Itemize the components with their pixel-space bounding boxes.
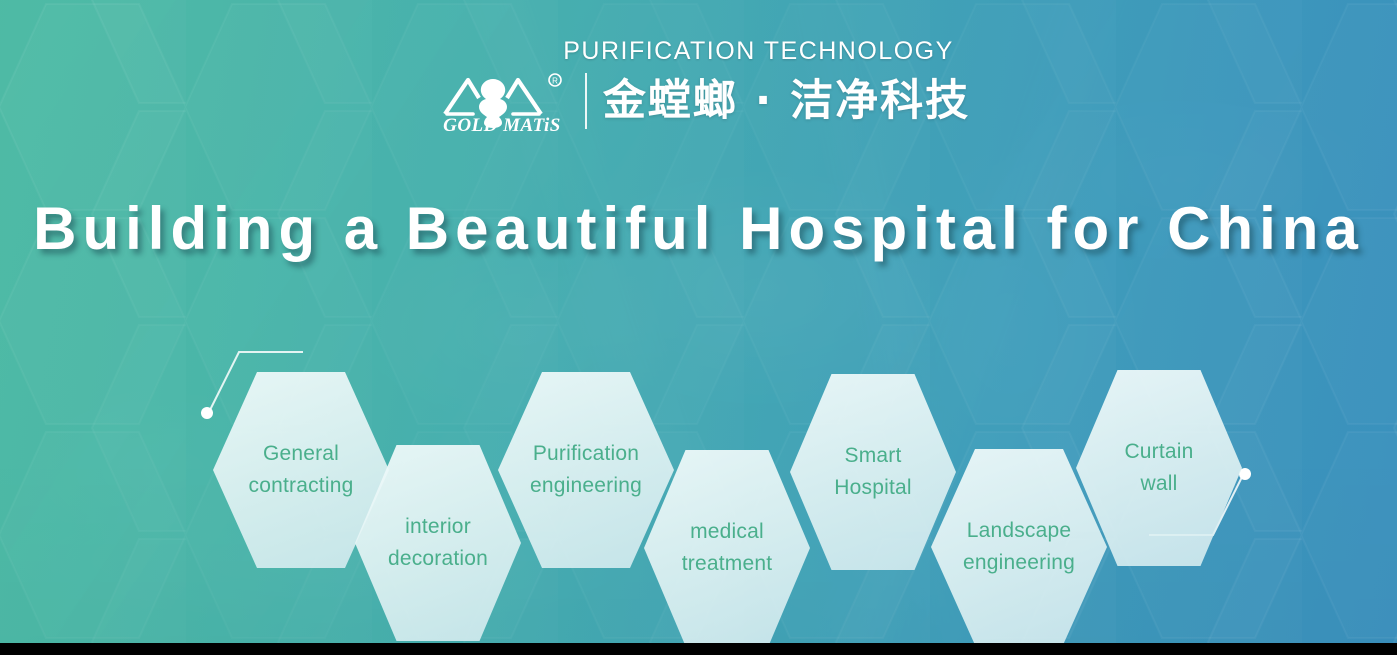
hex-label-line2: decoration — [388, 543, 488, 575]
hex-label-line2: engineering — [530, 470, 642, 502]
hex-label-line1: Smart — [844, 440, 901, 472]
hex-label-line2: contracting — [249, 470, 354, 502]
hexagon-smart-hospital[interactable]: Smart Hospital — [790, 374, 956, 570]
hex-label-line2: treatment — [682, 548, 773, 580]
hex-label-line1: interior — [405, 511, 471, 543]
hex-label-line2: wall — [1141, 468, 1178, 500]
hex-label-line1: Purification — [533, 438, 639, 470]
letterbox-bottom-bar — [0, 643, 1397, 655]
hex-label-line2: engineering — [963, 547, 1075, 579]
slide-canvas: PURIFICATION TECHNOLOGY — [0, 0, 1397, 655]
hex-label-line1: Landscape — [967, 515, 1072, 547]
hex-label-line1: medical — [690, 516, 764, 548]
hexagon-purification-engineering[interactable]: Purification engineering — [498, 372, 674, 568]
service-hexagon-cluster: General contracting interior decoration … — [0, 0, 1397, 643]
hex-label-line2: Hospital — [834, 472, 911, 504]
hex-label-line1: Curtain — [1124, 436, 1193, 468]
hex-label-line1: General — [263, 438, 339, 470]
